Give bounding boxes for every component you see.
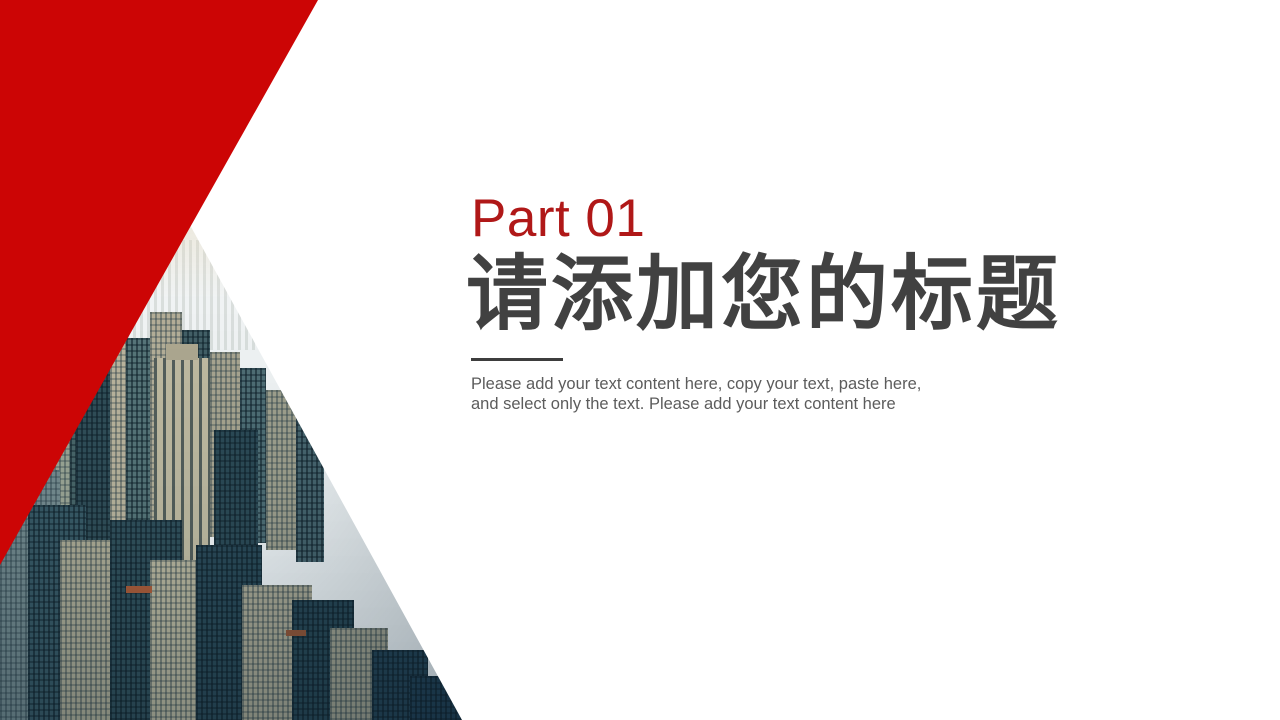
body-line: and select only the text. Please add you… — [471, 394, 951, 414]
title-divider — [471, 358, 563, 361]
presentation-slide: Part 01 请添加您的标题 Please add your text con… — [0, 0, 1280, 720]
page-title: 请添加您的标题 — [466, 250, 1170, 340]
body-paragraph: Please add your text content here, copy … — [471, 374, 951, 414]
slide-text-block: Part 01 请添加您的标题 Please add your text con… — [470, 190, 1170, 414]
section-eyebrow: Part 01 — [471, 190, 1170, 248]
body-line: Please add your text content here, copy … — [471, 374, 951, 394]
